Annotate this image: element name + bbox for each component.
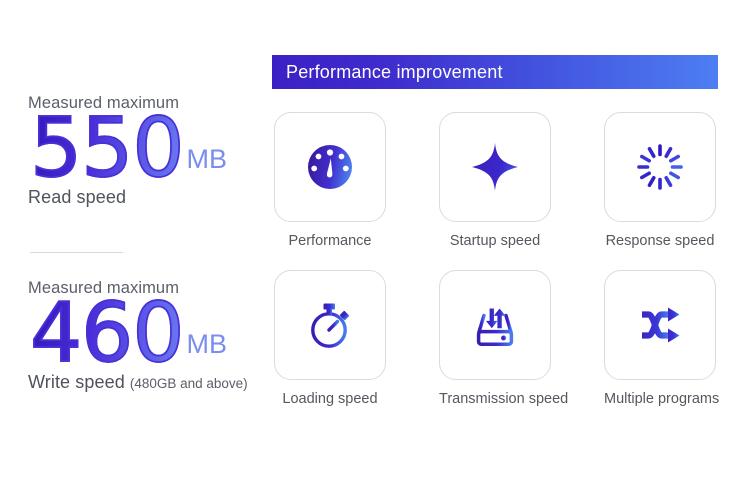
tile-response-speed[interactable]: Response speed [604, 112, 716, 249]
tile-startup-speed[interactable]: Startup speed [439, 112, 551, 249]
stopwatch-icon [301, 296, 359, 354]
read-speed-value-row: 550 MB [30, 116, 227, 184]
tile-label: Startup speed [439, 233, 551, 249]
shuffle-arrows-icon [631, 296, 689, 354]
tile-card[interactable] [274, 112, 386, 222]
tile-card[interactable] [439, 112, 551, 222]
measured-speeds-panel: Measured maximum 550 MB Read speed Measu… [0, 0, 270, 500]
tile-card[interactable] [604, 270, 716, 380]
banner-title: Performance improvement [286, 62, 503, 83]
speedometer-icon [301, 138, 359, 196]
performance-improvement-banner: Performance improvement [272, 55, 718, 89]
read-speed-number: 550 [30, 114, 184, 184]
write-speed-number-wrap: 460 [30, 299, 184, 369]
performance-improvement-panel: Performance improvement [272, 0, 750, 500]
drive-transfer-icon [466, 296, 524, 354]
tile-label: Performance [274, 233, 386, 249]
tile-card[interactable] [274, 270, 386, 380]
spec-divider [30, 252, 123, 253]
tile-card[interactable] [604, 112, 716, 222]
tile-label: Loading speed [274, 391, 386, 407]
tile-card[interactable] [439, 270, 551, 380]
loading-spinner-icon [631, 138, 689, 196]
tile-loading-speed[interactable]: Loading speed [274, 270, 386, 407]
tile-label: Transmission speed [439, 391, 551, 407]
write-speed-block: Measured maximum 460 MB Write speed (480… [28, 278, 248, 393]
feature-tile-grid: Performance [274, 112, 726, 428]
read-speed-block: Measured maximum 550 MB Read speed [28, 93, 227, 208]
sparkle-star-icon [466, 138, 524, 196]
write-speed-number: 460 [30, 299, 184, 369]
write-speed-value-row: 460 MB [30, 301, 248, 369]
read-speed-unit: MB [187, 144, 228, 175]
product-spec-panel: Measured maximum 550 MB Read speed Measu… [0, 0, 750, 500]
write-speed-unit: MB [187, 329, 228, 360]
read-speed-number-wrap: 550 [30, 114, 184, 184]
feature-tile-row: Performance [274, 112, 726, 249]
tile-multiple-programs[interactable]: Multiple programs [604, 270, 716, 407]
tile-transmission-speed[interactable]: Transmission speed [439, 270, 551, 407]
tile-label: Response speed [604, 233, 716, 249]
feature-tile-row: Loading speed [274, 270, 726, 407]
tile-label: Multiple programs [604, 391, 716, 407]
tile-performance[interactable]: Performance [274, 112, 386, 249]
